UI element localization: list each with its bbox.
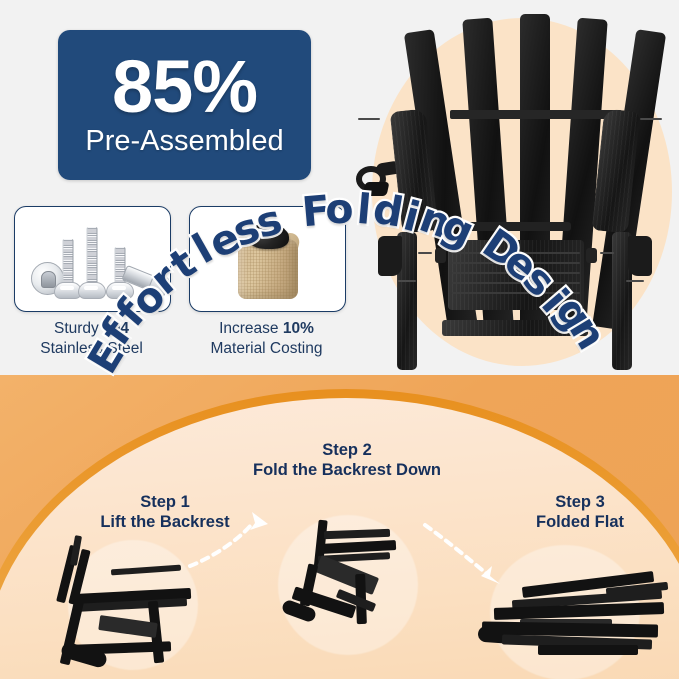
caption-line2: Material Costing (211, 340, 323, 357)
infographic-root: 85% Pre-Assembled (0, 0, 679, 679)
seat-assembly-part (448, 240, 584, 310)
hardware-pin-lower-left (398, 280, 416, 282)
step2-chair-image (280, 520, 425, 645)
top-section: 85% Pre-Assembled (0, 0, 679, 375)
pre-assembled-badge: 85% Pre-Assembled (58, 30, 311, 180)
step-3-label: Step 3 Folded Flat (485, 492, 675, 532)
seat-pivot-left (435, 248, 446, 263)
sack-graphic (235, 223, 301, 299)
bolts-icon (14, 206, 171, 312)
seat-slat-line-5 (452, 292, 580, 294)
feature-caption-stainless-steel: Sturdy 304 Stainless Steel (14, 319, 169, 359)
caption-prefix: Sturdy (54, 320, 103, 337)
feature-caption-material-costing: Increase 10% Material Costing (189, 319, 344, 359)
step-3-number: Step 3 (485, 492, 675, 512)
badge-subtitle: Pre-Assembled (85, 126, 283, 158)
seat-slat-line-2 (452, 262, 580, 264)
step-1-text: Lift the Backrest (60, 512, 270, 532)
step3-chair-image (478, 575, 678, 679)
step-2-text: Fold the Backrest Down (232, 460, 462, 480)
step1-chair-image (55, 543, 220, 673)
step-2-label: Step 2 Fold the Backrest Down (232, 440, 462, 480)
step-3-text: Folded Flat (485, 512, 675, 532)
seat-pin-right (600, 252, 614, 254)
hardware-pin-right (640, 118, 662, 120)
step-1-number: Step 1 (60, 492, 270, 512)
upper-cross-rail (463, 222, 571, 231)
feature-card-stainless-steel: Sturdy 304 Stainless Steel (14, 206, 169, 359)
step-1-label: Step 1 Lift the Backrest (60, 492, 270, 532)
backrest-cross-rail (450, 110, 622, 119)
hardware-pin-lower-right (626, 280, 644, 282)
step-2-number: Step 2 (232, 440, 462, 460)
hardware-pin-left (358, 118, 380, 120)
feature-card-material-costing: Increase 10% Material Costing (189, 206, 344, 359)
right-leg-bracket (628, 236, 652, 276)
exploded-chair-diagram (340, 0, 679, 375)
caption-line2: Stainless Steel (40, 340, 143, 357)
seat-pivot-right (586, 248, 597, 263)
seat-pin-left (418, 252, 432, 254)
seat-slat-line-4 (452, 282, 580, 284)
caption-prefix: Increase (219, 320, 283, 337)
sandbag-icon (189, 206, 346, 312)
seat-slat-line-1 (452, 252, 580, 254)
badge-percent-value: 85% (112, 52, 257, 122)
front-rail-part (442, 320, 588, 336)
caption-bold: 10% (283, 320, 314, 337)
left-leg-bracket (378, 236, 402, 276)
caption-bold: 304 (103, 320, 129, 337)
seat-slat-line-3 (452, 272, 580, 274)
bolt-icon-2 (79, 227, 105, 299)
